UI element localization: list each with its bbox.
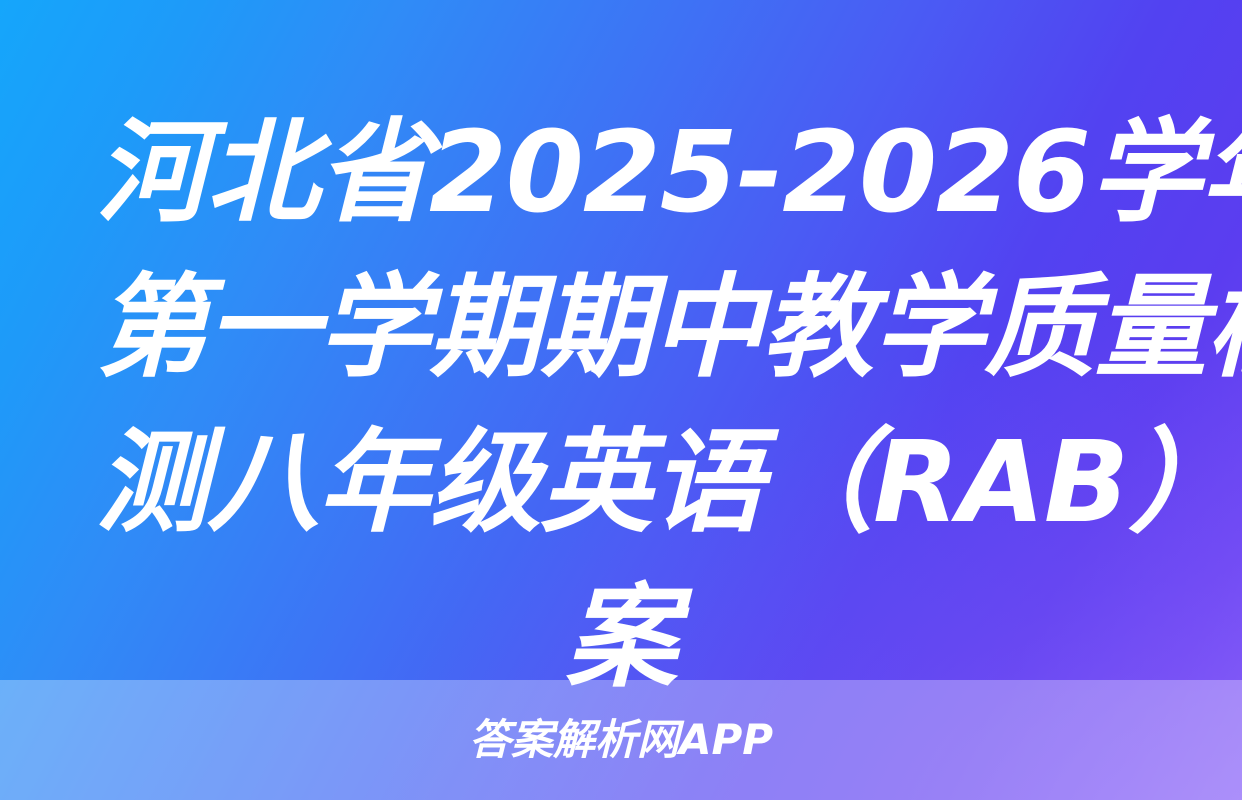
poster-card: 河北省2025-2026学年 第一学期期中教学质量检 测八年级英语（RAB）答 … bbox=[0, 0, 1242, 800]
app-name-label: 答案解析网APP bbox=[469, 719, 773, 761]
footer-banner: 答案解析网APP bbox=[0, 680, 1242, 800]
title-line-1: 河北省2025-2026学年 bbox=[96, 96, 1146, 251]
page-title: 河北省2025-2026学年 第一学期期中教学质量检 测八年级英语（RAB）答 … bbox=[0, 96, 1242, 716]
title-line-3: 测八年级英语（RAB）答 bbox=[96, 406, 1146, 561]
title-line-2: 第一学期期中教学质量检 bbox=[96, 251, 1146, 406]
